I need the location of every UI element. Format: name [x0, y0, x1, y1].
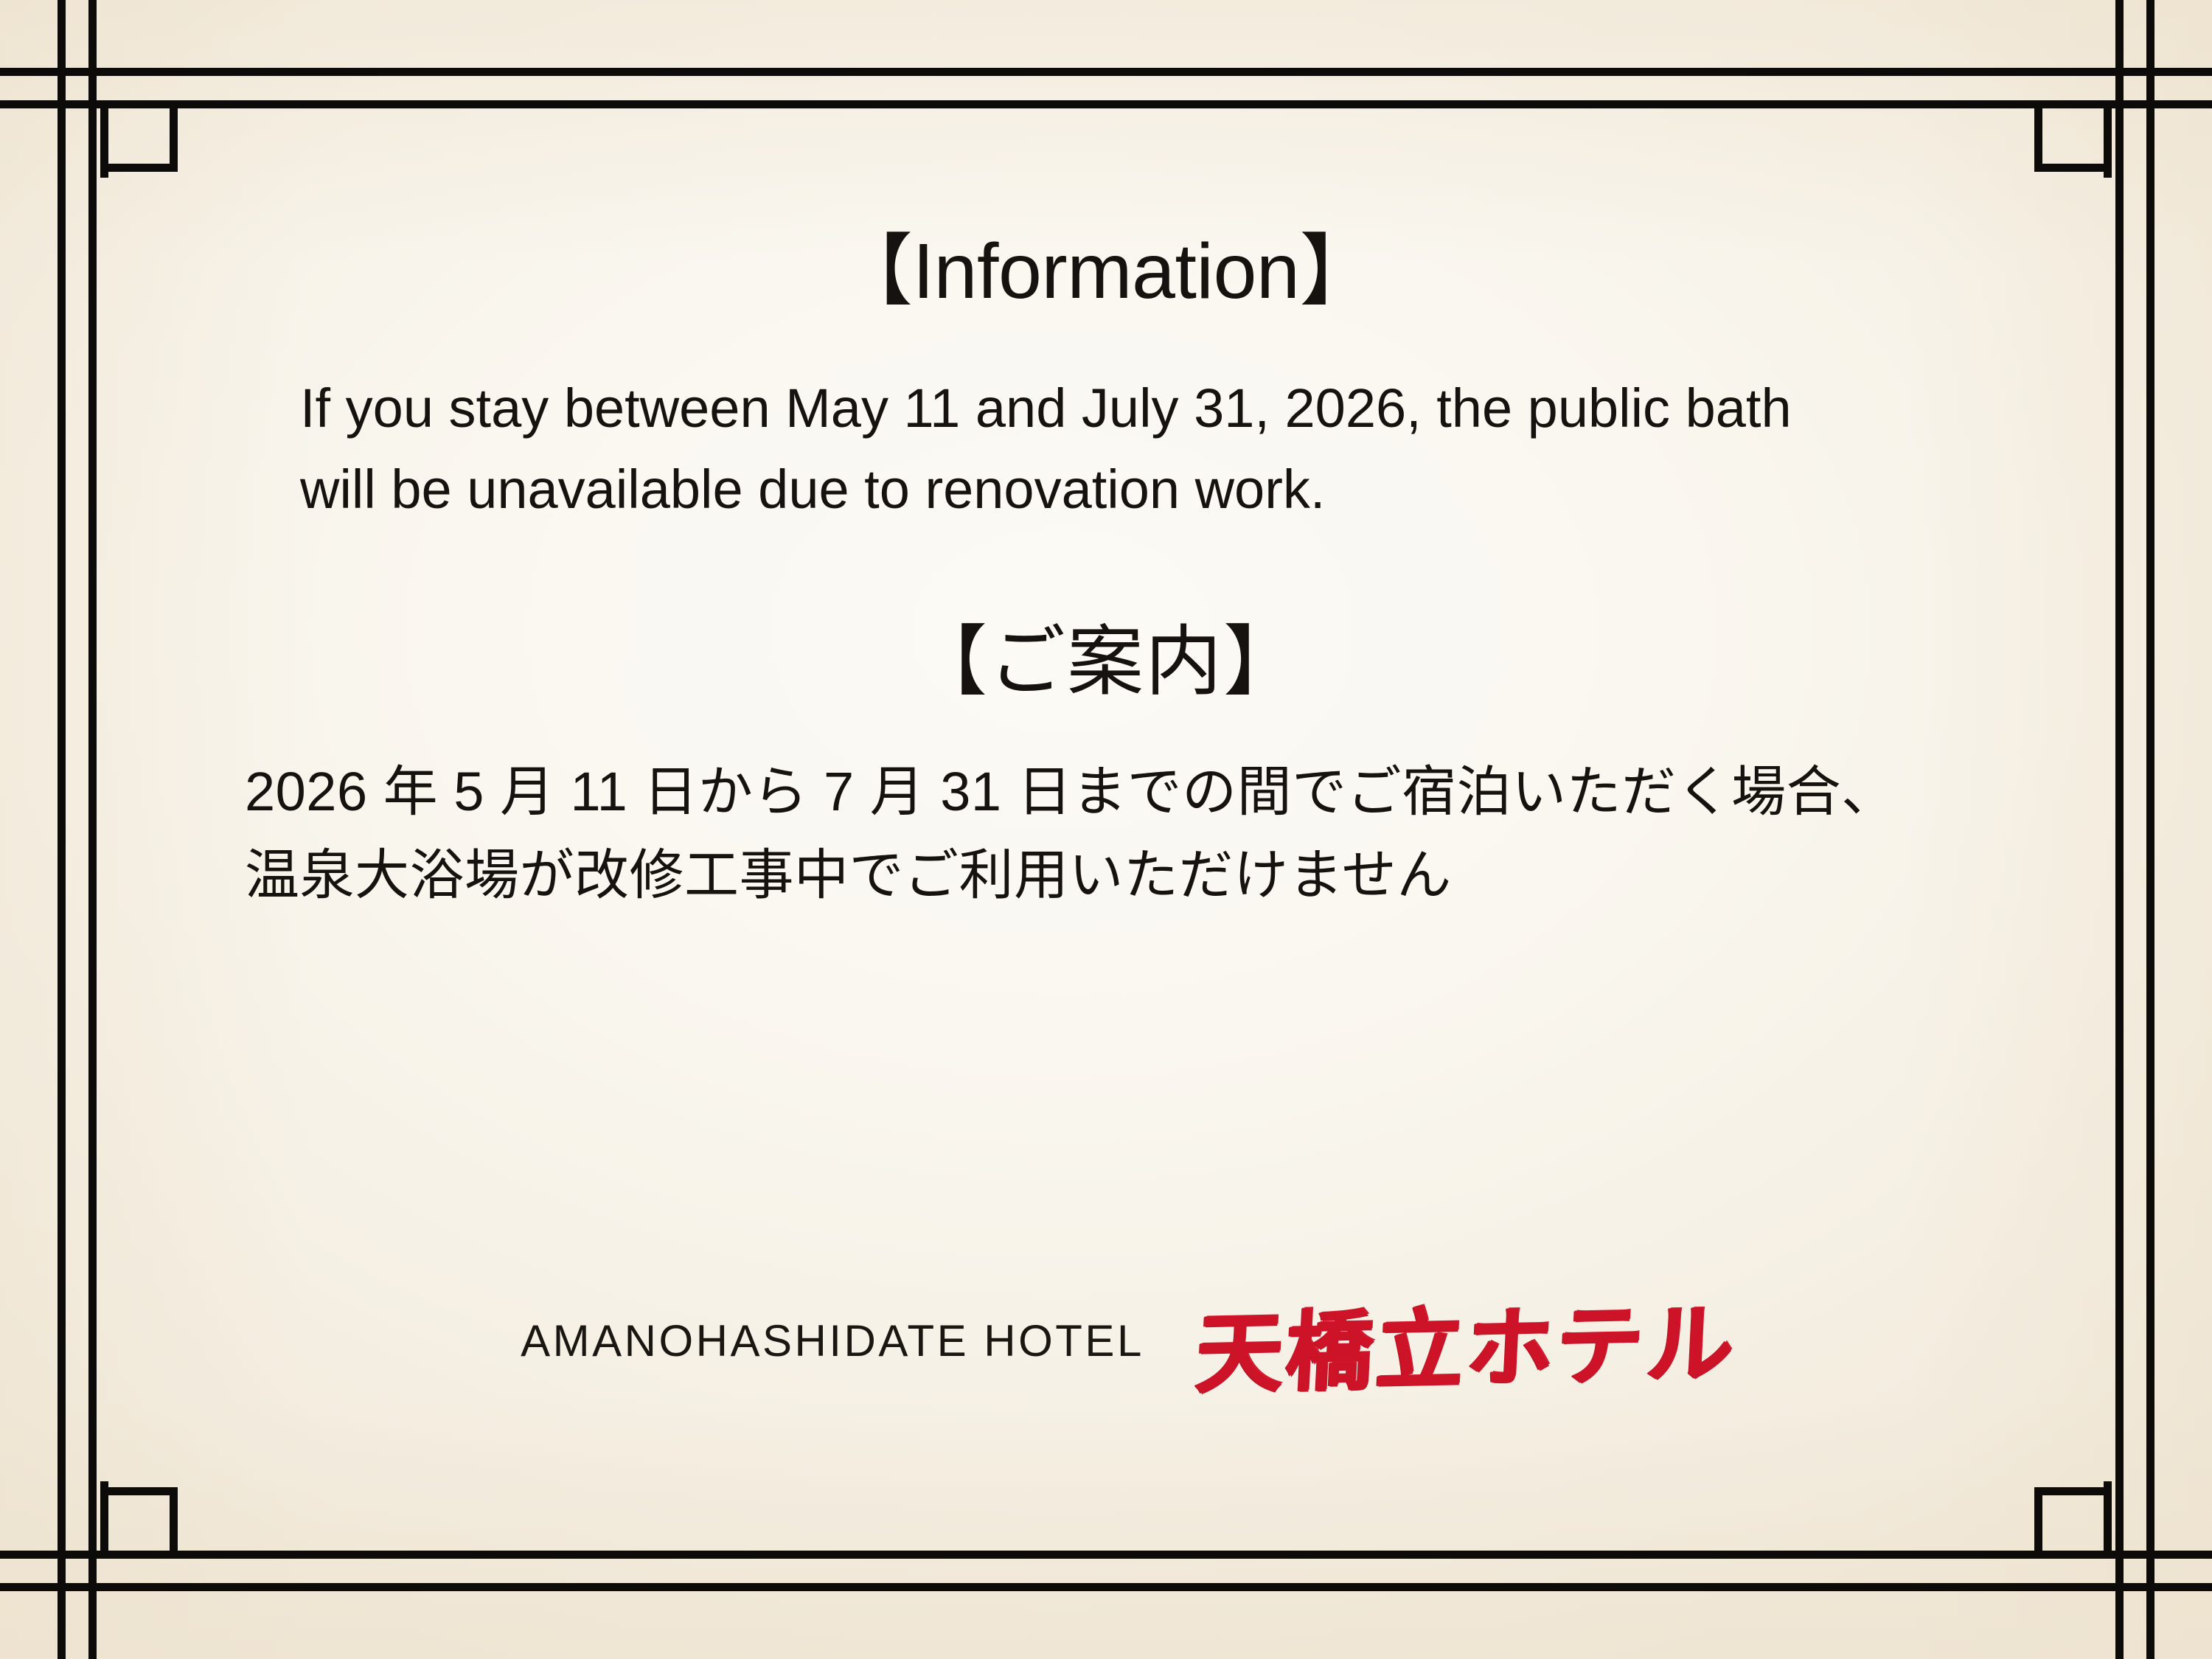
notice-content: 【Information】 If you stay between May 11…: [111, 111, 2101, 1548]
notice-body-japanese-line-2: 温泉大浴場が改修工事中でご利用いただけません: [245, 834, 1991, 917]
notice-body-english-line-2: will be unavailable due to renovation wo…: [300, 449, 1950, 530]
frame-rule-top-outer: [0, 68, 2212, 76]
information-heading-english: 【Information】: [835, 232, 1377, 310]
notice-poster: 【Information】 If you stay between May 11…: [0, 0, 2212, 1659]
frame-rule-left-outer: [58, 0, 66, 1659]
information-heading-japanese: 【ご案内】: [911, 624, 1301, 700]
notice-body-english: If you stay between May 11 and July 31, …: [262, 368, 1950, 529]
lattice-stroke-top: [100, 100, 178, 108]
lattice-stroke-top: [100, 1551, 178, 1559]
frame-rule-right-outer: [2146, 0, 2154, 1659]
frame-rule-left-inner: [88, 0, 97, 1659]
hotel-name-romaji: AMANOHASHIDATE HOTEL: [521, 1315, 1144, 1366]
frame-rule-bottom-outer: [0, 1583, 2212, 1591]
lattice-stroke-top: [2034, 1551, 2112, 1559]
frame-rule-right-inner: [2115, 0, 2124, 1659]
frame-rule-top-inner: [0, 100, 2212, 108]
lattice-stroke-top: [2034, 100, 2112, 108]
frame-rule-bottom-inner: [0, 1551, 2212, 1559]
notice-body-english-line-1: If you stay between May 11 and July 31, …: [300, 368, 1950, 449]
hotel-logo-japanese: 天橋立ホテル: [1192, 1272, 1739, 1409]
notice-body-japanese: 2026 年 5 月 11 日から 7 月 31 日までの間でご宿泊いただく場合…: [221, 751, 1991, 917]
brand-footer: AMANOHASHIDATE HOTEL 天橋立ホテル: [111, 1278, 2101, 1404]
notice-body-japanese-line-1: 2026 年 5 月 11 日から 7 月 31 日までの間でご宿泊いただく場合…: [245, 751, 1991, 833]
